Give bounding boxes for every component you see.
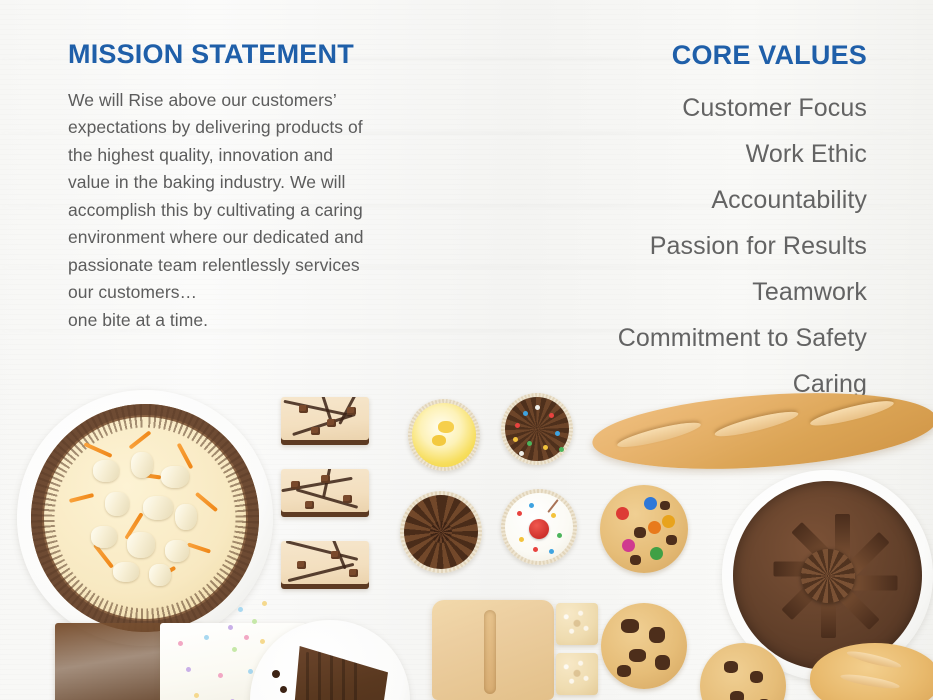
- pastel-sprinkle: [232, 647, 237, 652]
- rainbow-sprinkle: [527, 441, 532, 446]
- loaf-score: [484, 610, 496, 694]
- chocolate-chunk: [750, 671, 763, 683]
- white-chocolate-curl: [91, 526, 117, 548]
- chocolate-drizzle: [292, 413, 356, 436]
- chocolate-swirl-cupcake: [404, 495, 478, 569]
- white-chocolate-curl: [113, 562, 139, 582]
- pastel-sprinkle: [194, 693, 199, 698]
- mission-statement-body: We will Rise above our customers’ expect…: [68, 87, 468, 335]
- rainbow-sprinkle: [551, 513, 556, 518]
- lemon-cupcake: [412, 403, 476, 467]
- white-chocolate-curl: [165, 540, 189, 562]
- candy-piece: [648, 521, 661, 534]
- mission-line: value in the baking industry. We will: [68, 169, 468, 197]
- loose-sprinkle: [244, 635, 249, 640]
- pastel-sprinkle: [186, 667, 191, 672]
- chocolate-chunk: [331, 551, 340, 559]
- rainbow-sprinkle: [519, 537, 524, 542]
- mission-line: our customers…: [68, 279, 468, 307]
- white-chocolate-curl: [161, 466, 189, 488]
- rainbow-sprinkle: [523, 411, 528, 416]
- rainbow-sprinkle: [533, 547, 538, 552]
- mission-line: environment where our dedicated and: [68, 224, 468, 252]
- rainbow-sprinkle: [543, 445, 548, 450]
- mission-line: expectations by delivering products of: [68, 114, 468, 142]
- rainbow-sprinkle: [555, 431, 560, 436]
- frosting-ridge: [342, 652, 345, 700]
- chocolate-chunk: [621, 619, 639, 633]
- cake-slice: [292, 646, 388, 700]
- frosting-ridge: [330, 650, 333, 700]
- mission-line: the highest quality, innovation and: [68, 142, 468, 170]
- mm-candy-cookie: [600, 485, 688, 573]
- chocolate-chunk: [299, 405, 308, 413]
- pastel-sprinkle: [178, 641, 183, 646]
- carrot-cake-on-plate: [17, 390, 273, 646]
- chocolate-chunk: [327, 419, 336, 427]
- bakery-photo-collage: [0, 385, 933, 700]
- lemon-frosting: [412, 403, 476, 467]
- rainbow-sprinkle: [529, 503, 534, 508]
- lemon-curd-dollop: [438, 421, 454, 433]
- chocolate-chip: [272, 670, 280, 678]
- chocolate-rosette: [801, 549, 855, 603]
- candy-piece: [644, 497, 657, 510]
- core-value-item: Accountability: [447, 177, 867, 223]
- white-chocolate-curl: [143, 496, 173, 520]
- frosting-ridge: [318, 650, 321, 700]
- rustic-bread-loaf: [432, 600, 554, 700]
- chocolate-chip: [660, 501, 670, 510]
- pastel-sprinkle: [248, 669, 253, 674]
- carrot-cake: [31, 404, 259, 632]
- mission-line: We will Rise above our customers’: [68, 87, 468, 115]
- white-chocolate-curl: [93, 460, 119, 482]
- loose-sprinkle: [228, 625, 233, 630]
- white-chocolate-curl: [131, 452, 153, 478]
- rice-krispie-treat: [556, 653, 598, 695]
- mission-line: one bite at a time.: [68, 307, 468, 335]
- core-value-item: Teamwork: [447, 269, 867, 315]
- chocolate-chunk: [305, 501, 314, 509]
- frosting-ridge: [306, 652, 309, 700]
- chocolate-chunk: [297, 561, 306, 569]
- marble-cheesecake-bar: [281, 397, 369, 445]
- maraschino-cherry: [529, 519, 549, 539]
- chocolate-chunk: [730, 691, 744, 700]
- chocolate-chunk: [291, 481, 300, 489]
- chocolate-chunk: [347, 407, 356, 415]
- chocolate-drizzle: [286, 541, 359, 561]
- chocolate-chunk: [724, 661, 738, 673]
- pastel-sprinkle: [204, 635, 209, 640]
- chocolate-chunk: [617, 665, 631, 677]
- chocolate-chunk: [311, 427, 320, 435]
- chocolate-chunk: [655, 655, 670, 670]
- rainbow-sprinkle: [549, 549, 554, 554]
- mission-line: accomplish this by cultivating a caring: [68, 197, 468, 225]
- chocolate-chunk: [343, 495, 352, 503]
- chocolate-chunk: [349, 569, 358, 577]
- frosting-ridge: [354, 656, 357, 700]
- white-chocolate-curl: [175, 504, 197, 530]
- candy-piece: [662, 515, 675, 528]
- rainbow-sprinkle: [549, 413, 554, 418]
- loose-sprinkle: [238, 607, 243, 612]
- slide-canvas: MISSION STATEMENT We will Rise above our…: [0, 0, 933, 700]
- mission-statement-block: MISSION STATEMENT We will Rise above our…: [68, 40, 468, 334]
- mission-statement-heading: MISSION STATEMENT: [68, 40, 468, 70]
- rainbow-sprinkle: [515, 423, 520, 428]
- loose-sprinkle: [252, 619, 257, 624]
- chocolate-chunk-cookie: [601, 603, 687, 689]
- baguette-score: [713, 407, 800, 440]
- marble-cheesecake-bar: [281, 541, 369, 589]
- pastel-sprinkle: [218, 673, 223, 678]
- rainbow-sprinkle: [557, 533, 562, 538]
- core-value-item: Customer Focus: [447, 85, 867, 131]
- core-values-block: CORE VALUES Customer Focus Work Ethic Ac…: [447, 40, 867, 407]
- baguette-score: [616, 418, 703, 451]
- chocolate-chip: [280, 686, 287, 693]
- rainbow-sprinkle: [535, 405, 540, 410]
- rainbow-sprinkle: [517, 511, 522, 516]
- chocolate-chip: [630, 555, 641, 565]
- loose-sprinkle: [262, 601, 267, 606]
- chocolate-chunk: [629, 649, 646, 662]
- white-chocolate-curl: [105, 492, 129, 516]
- core-values-list: Customer Focus Work Ethic Accountability…: [447, 85, 867, 407]
- core-value-item: Commitment to Safety: [447, 315, 867, 361]
- candy-piece: [616, 507, 629, 520]
- chocolate-chunk: [649, 627, 665, 643]
- chocolate-chip: [666, 535, 677, 545]
- rainbow-sprinkle: [559, 447, 564, 452]
- lemon-curd-dollop: [432, 435, 446, 446]
- baguette: [590, 383, 933, 479]
- rainbow-sprinkle: [519, 451, 524, 456]
- core-value-item: Passion for Results: [447, 223, 867, 269]
- core-values-heading: CORE VALUES: [447, 40, 867, 71]
- baguette-score: [809, 397, 896, 430]
- rainbow-sprinkle: [513, 437, 518, 442]
- core-value-item: Work Ethic: [447, 131, 867, 177]
- chocolate-cake: [733, 481, 922, 670]
- roll-score: [840, 672, 901, 691]
- mission-line: passionate team relentlessly services: [68, 252, 468, 280]
- rice-krispie-treat: [556, 603, 598, 645]
- pastel-sprinkle: [260, 639, 265, 644]
- marble-cheesecake-bar: [281, 469, 369, 517]
- chocolate-chip: [634, 527, 646, 538]
- vanilla-cherry-cupcake: [505, 493, 573, 561]
- chocolate-sprinkle-cupcake: [505, 397, 569, 461]
- white-chocolate-curl: [149, 564, 171, 586]
- roll-score: [846, 648, 903, 670]
- candy-piece: [650, 547, 663, 560]
- candy-piece: [622, 539, 635, 552]
- chocolate-chunk: [321, 475, 330, 483]
- chocolate-curl: [430, 521, 452, 543]
- white-chocolate-curl: [127, 532, 155, 558]
